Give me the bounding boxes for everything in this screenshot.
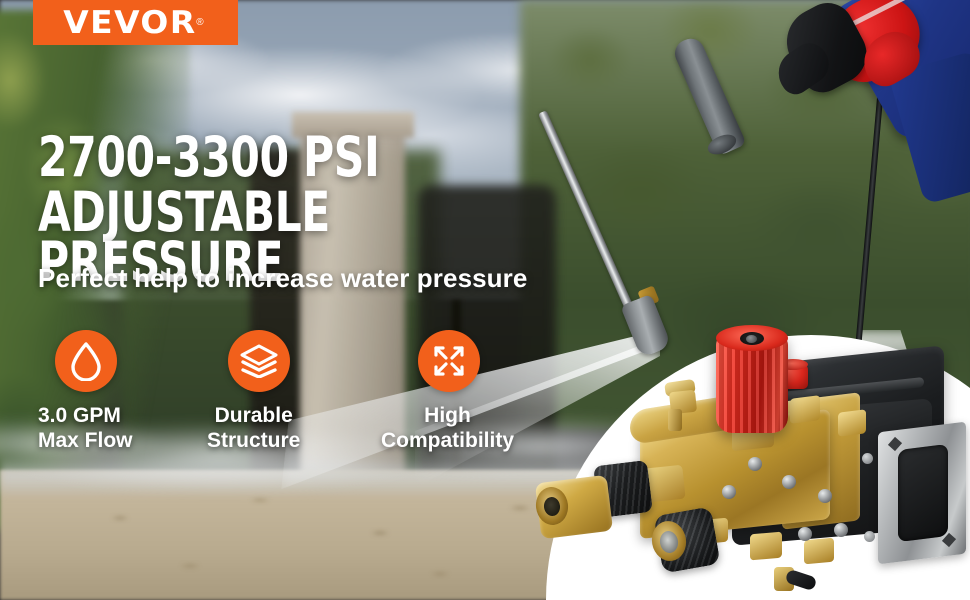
valve-cap bbox=[834, 523, 848, 537]
feature-label-line-2: Structure bbox=[207, 429, 300, 454]
mounting-bracket-bore bbox=[898, 444, 948, 542]
product-banner: VEVOR® 2700-3300 PSI ADJUSTABLE PRESSURE… bbox=[0, 0, 970, 600]
unloader-knob-screw bbox=[746, 335, 757, 343]
valve-cap bbox=[818, 489, 832, 503]
brand-name: VEVOR bbox=[64, 5, 197, 41]
feature-label-line-1: High bbox=[381, 404, 514, 429]
feature-icon-badge bbox=[55, 330, 117, 392]
feature-label-line-1: 3.0 GPM bbox=[38, 404, 133, 429]
feature-item-high-compatibility: High Compatibility bbox=[401, 330, 514, 454]
feature-list: 3.0 GPM Max Flow Durable Structure bbox=[0, 330, 545, 480]
feature-label-line-2: Max Flow bbox=[38, 429, 133, 454]
registered-trademark-icon: ® bbox=[196, 17, 203, 28]
bracket-bolt bbox=[862, 453, 873, 464]
feature-item-max-flow: 3.0 GPM Max Flow bbox=[38, 330, 133, 454]
feature-label-line-2: Compatibility bbox=[381, 429, 514, 454]
manifold-hex-plug bbox=[838, 409, 866, 436]
valve-cap bbox=[722, 485, 736, 499]
feature-icon-badge bbox=[228, 330, 290, 392]
manifold-hex-plug bbox=[804, 538, 834, 565]
manifold-hex-plug bbox=[790, 395, 820, 424]
small-brass-stem bbox=[668, 409, 682, 431]
feature-label-line-1: Durable bbox=[207, 404, 300, 429]
headline-line-1: 2700-3300 PSI bbox=[38, 132, 571, 183]
expand-arrows-icon bbox=[431, 343, 467, 379]
water-drop-icon bbox=[69, 341, 103, 381]
brand-logo: VEVOR® bbox=[33, 0, 238, 45]
feature-icon-badge bbox=[418, 330, 480, 392]
bracket-bolt bbox=[864, 531, 875, 542]
valve-cap bbox=[748, 457, 762, 471]
subheadline: Perfect help to increase water pressure bbox=[38, 263, 527, 294]
feature-label: 3.0 GPM Max Flow bbox=[38, 404, 133, 454]
feature-item-durable-structure: Durable Structure bbox=[211, 330, 300, 454]
manifold-hex-plug bbox=[750, 532, 782, 561]
valve-cap bbox=[798, 527, 812, 541]
layers-stack-icon bbox=[240, 344, 278, 378]
valve-cap bbox=[782, 475, 796, 489]
feature-label: Durable Structure bbox=[207, 404, 300, 454]
feature-label: High Compatibility bbox=[381, 404, 514, 454]
product-image bbox=[546, 335, 970, 600]
